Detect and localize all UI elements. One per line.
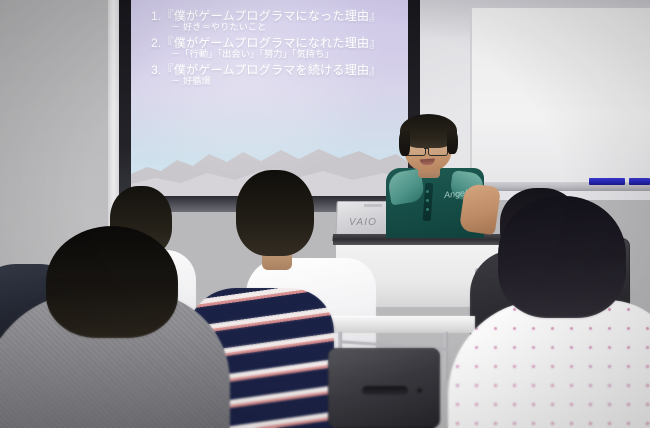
slide-text-block: 1.『僕がゲームプログラマになった理由』 － 好き＝やりたいこと 2.『僕がゲー…	[149, 10, 402, 90]
slide-sub-1: － 好き＝やりたいこと	[149, 23, 402, 32]
speaker-hair-side-right	[447, 130, 458, 154]
laptop-hinge-cap	[364, 204, 382, 207]
desk-center-leg-right	[444, 332, 448, 380]
chair-handle-slot	[362, 386, 408, 395]
slide-line-3: 3.『僕がゲームプログラマを続ける理由』	[149, 64, 402, 76]
speaker-arm	[459, 183, 501, 236]
audience-center-striped-head	[236, 170, 314, 256]
audience-front-right-head	[498, 196, 626, 318]
speaker-hair-side-left	[399, 130, 410, 156]
speaker-shirt-button	[426, 208, 429, 211]
speaker-shirt-button	[426, 199, 429, 202]
slide-sub-3: － 好循環	[149, 77, 402, 86]
audience-front-left-head	[46, 226, 178, 338]
slide-line-1: 1.『僕がゲームプログラマになった理由』	[149, 10, 402, 22]
whiteboard-marker[interactable]	[589, 178, 625, 185]
whiteboard-eraser[interactable]	[629, 178, 650, 185]
slide-sub-2: －「行動」「出会い」「努力」「気持ち」	[149, 50, 402, 59]
chair-rivet	[417, 388, 422, 393]
classroom-photo: 1.『僕がゲームプログラマになった理由』 － 好き＝やりたいこと 2.『僕がゲー…	[0, 0, 650, 428]
speaker-shirt-button	[426, 190, 429, 193]
laptop-brand-label: VAIO	[349, 217, 389, 228]
slide-line-2: 2.『僕がゲームプログラマになれた理由』	[149, 37, 402, 49]
whiteboard	[470, 8, 650, 188]
